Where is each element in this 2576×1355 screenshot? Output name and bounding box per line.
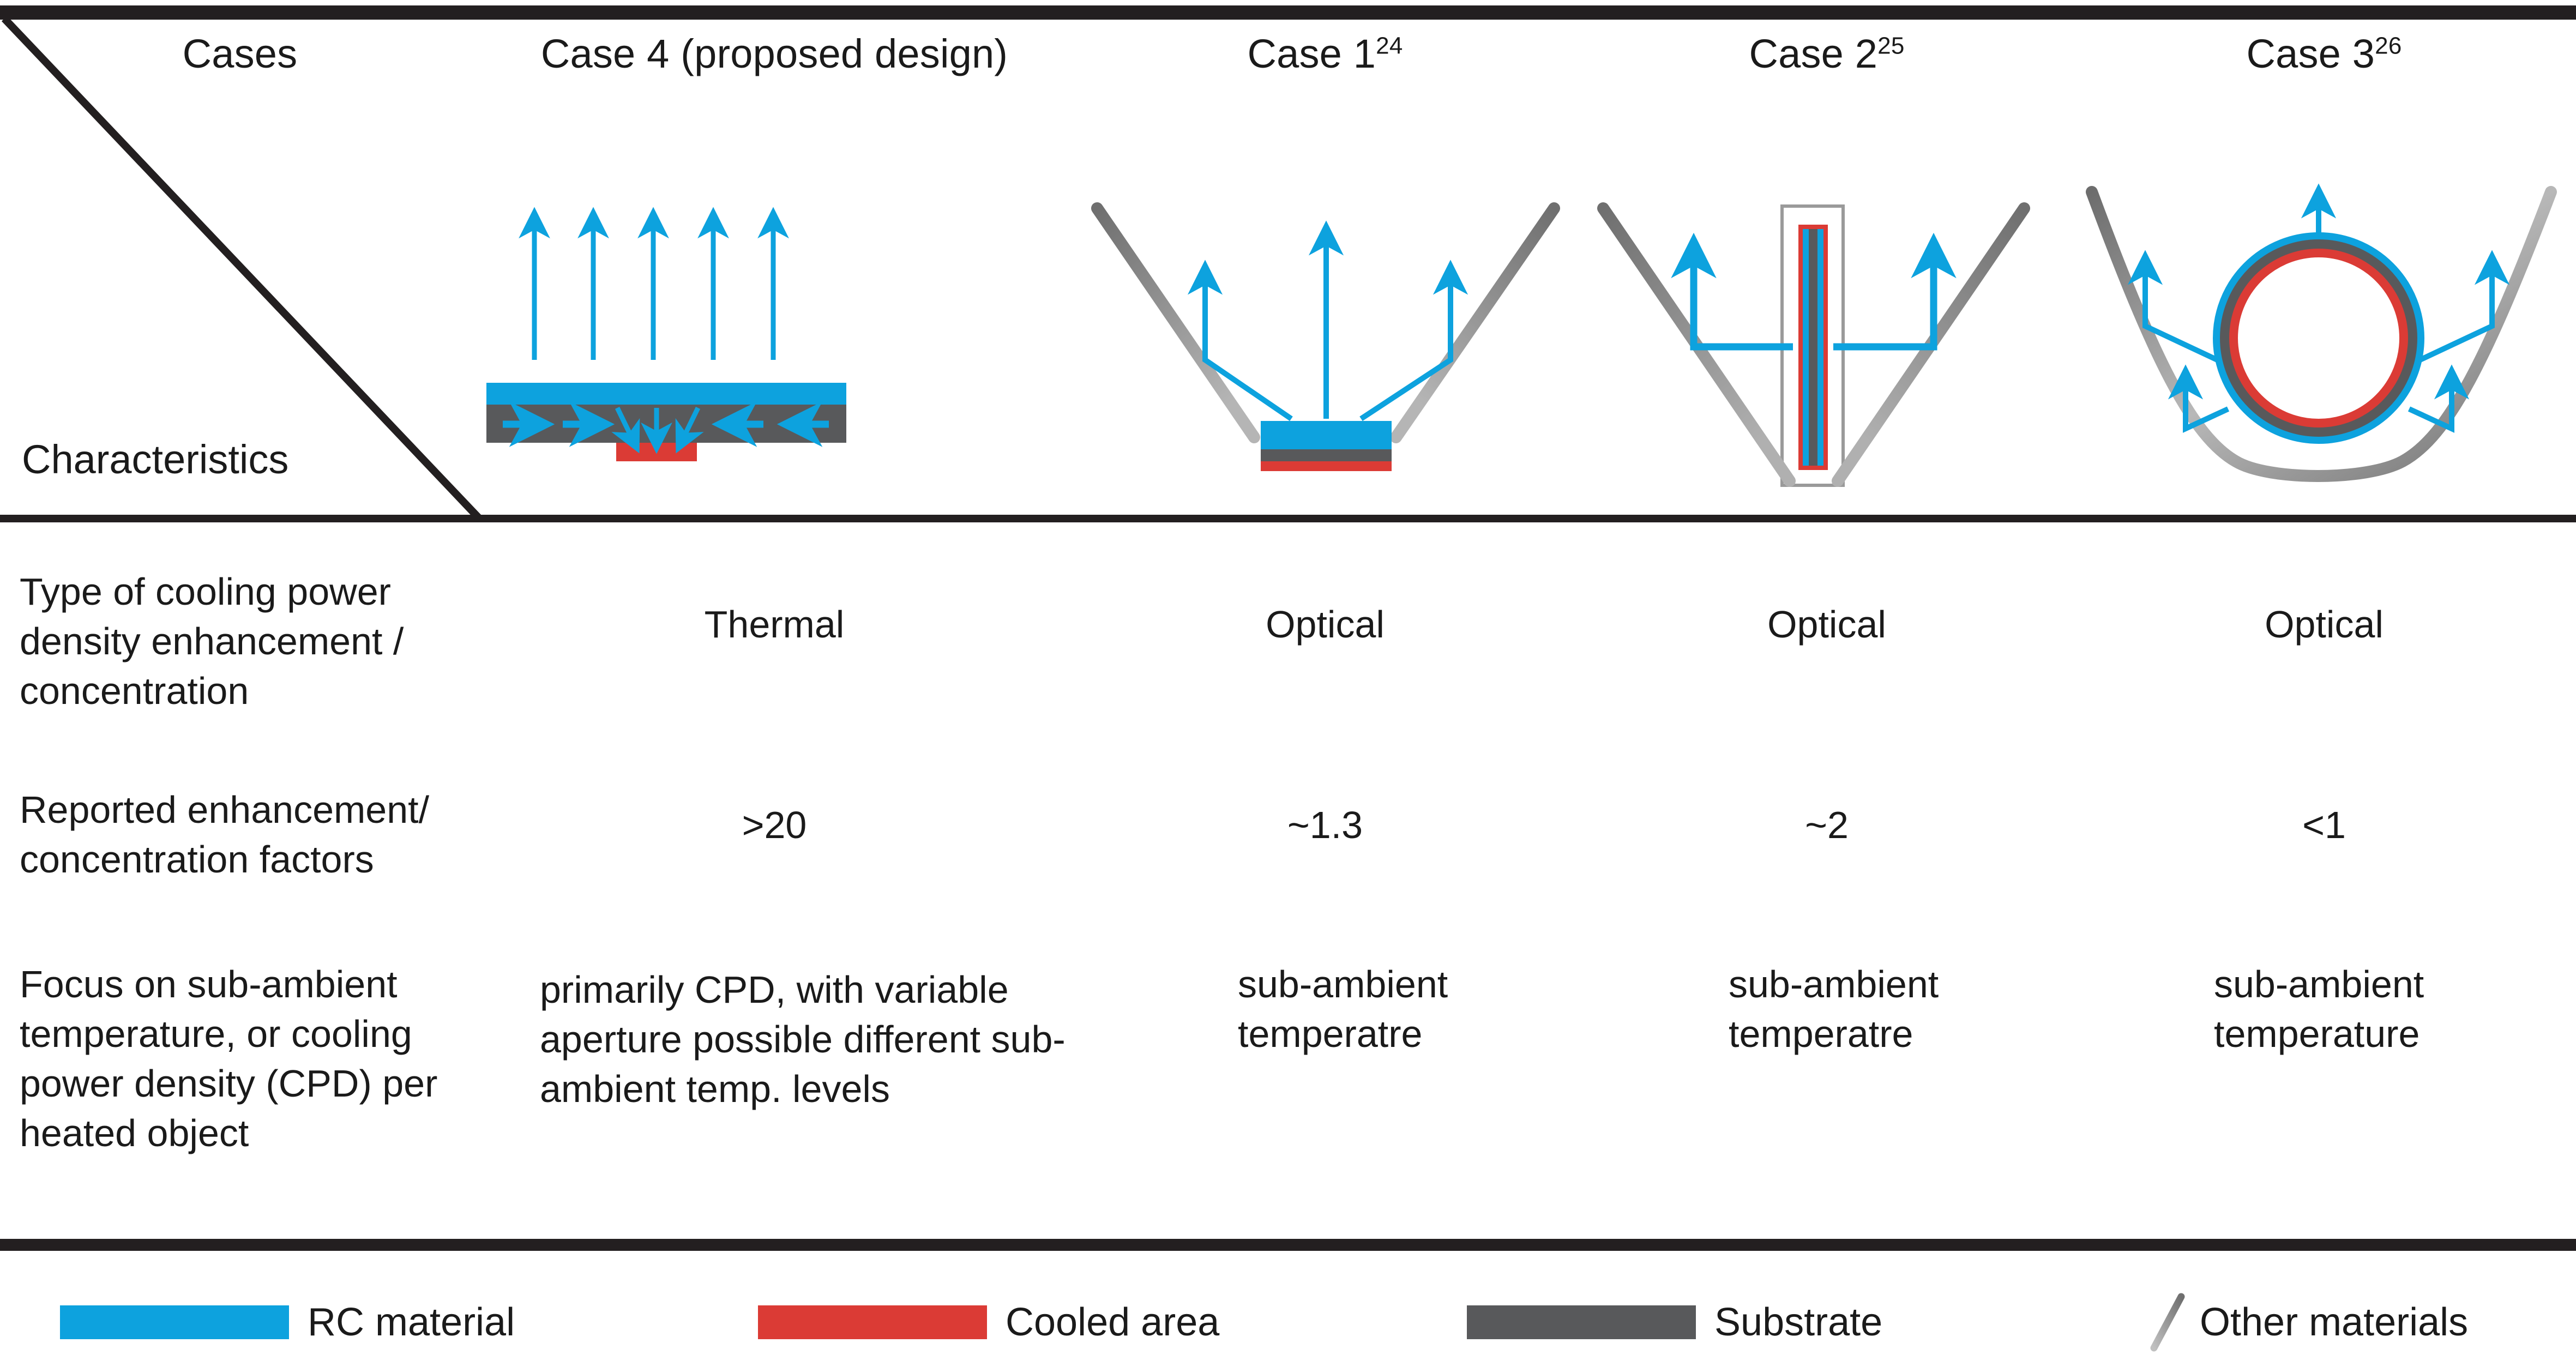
legend: RC material Cooled area Substrate xyxy=(0,1292,2576,1352)
diagram-case3 xyxy=(2072,180,2576,515)
legend-item-other-materials: Other materials xyxy=(2143,1292,2468,1352)
cell-factor-case3: <1 xyxy=(2072,800,2576,850)
legend-item-cooled-area: Cooled area xyxy=(758,1292,1219,1352)
citation-case2: 25 xyxy=(1877,32,1904,59)
header-label-case3: Case 326 xyxy=(2246,34,2402,74)
header-label-case1: Case 124 xyxy=(1247,34,1403,74)
case2-substrate xyxy=(1809,229,1817,466)
cell-focus-case3: sub-ambient temperature xyxy=(2214,960,2574,1059)
diagram-case4 xyxy=(480,180,1069,515)
other-materials-swatch xyxy=(2143,1292,2192,1352)
case1-rc-layer xyxy=(1261,421,1392,449)
legend-label-rc-material: RC material xyxy=(308,1300,515,1345)
row-label-reported-factors: Reported enhancement/ concentration fact… xyxy=(20,785,510,884)
cell-type-case1: Optical xyxy=(1069,600,1581,649)
header-label-cases: Cases xyxy=(183,34,298,74)
rc-material-swatch xyxy=(60,1305,289,1339)
legend-label-substrate: Substrate xyxy=(1714,1300,1882,1345)
characteristics-label: Characteristics xyxy=(22,436,288,483)
citation-case1: 24 xyxy=(1376,32,1403,59)
diagram-case2 xyxy=(1581,180,2072,515)
cell-type-case4: Thermal xyxy=(480,600,1069,649)
header-cell-case2: Case 225 xyxy=(1581,34,2072,94)
citation-case3: 26 xyxy=(2375,32,2402,59)
case1-substrate xyxy=(1261,449,1392,461)
header-label-case4: Case 4 (proposed design) xyxy=(541,34,1008,74)
cell-type-case3: Optical xyxy=(2072,600,2576,649)
comparison-figure: Cases Case 4 (proposed design) Case 124 … xyxy=(0,0,2576,1352)
header-cell-case4: Case 4 (proposed design) xyxy=(480,34,1069,94)
case3-tube-cooled xyxy=(2234,253,2404,423)
cell-focus-case4: primarily CPD, with variable aperture po… xyxy=(540,965,1085,1114)
header-cell-case1: Case 124 xyxy=(1069,34,1581,94)
cell-factor-case1: ~1.3 xyxy=(1069,800,1581,850)
header-cell-cases: Cases xyxy=(0,34,480,94)
legend-item-rc-material: RC material xyxy=(60,1292,515,1352)
legend-item-substrate: Substrate xyxy=(1467,1292,1882,1352)
legend-label-other-materials: Other materials xyxy=(2200,1300,2468,1345)
bottom-rule xyxy=(0,1239,2576,1251)
header-cell-case3: Case 326 xyxy=(2072,34,2576,94)
cell-focus-case2: sub-ambient temperatre xyxy=(1729,960,2121,1059)
cooled-area-swatch xyxy=(758,1305,987,1339)
diagram-case1 xyxy=(1069,180,1581,515)
header-separator-rule xyxy=(0,515,2576,522)
cell-factor-case4: >20 xyxy=(480,800,1069,850)
header-label-case2: Case 225 xyxy=(1749,34,1904,74)
top-rule xyxy=(0,5,2576,20)
case1-reflector-right xyxy=(1396,208,1554,437)
cell-type-case2: Optical xyxy=(1581,600,2072,649)
case4-rc-layer xyxy=(486,383,846,405)
cell-factor-case2: ~2 xyxy=(1581,800,2072,850)
row-label-type-of-enhancement: Type of cooling power density enhancemen… xyxy=(20,567,510,716)
cell-focus-case1: sub-ambient temperatre xyxy=(1238,960,1630,1059)
legend-label-cooled-area: Cooled area xyxy=(1006,1300,1219,1345)
case1-emission-arrows xyxy=(1205,227,1450,419)
case1-reflector-left xyxy=(1097,208,1254,437)
row-label-focus: Focus on sub-ambient temperature, or coo… xyxy=(20,960,510,1158)
substrate-swatch xyxy=(1467,1305,1696,1339)
case4-up-arrows xyxy=(534,213,773,360)
case1-cooled-area xyxy=(1261,461,1392,471)
